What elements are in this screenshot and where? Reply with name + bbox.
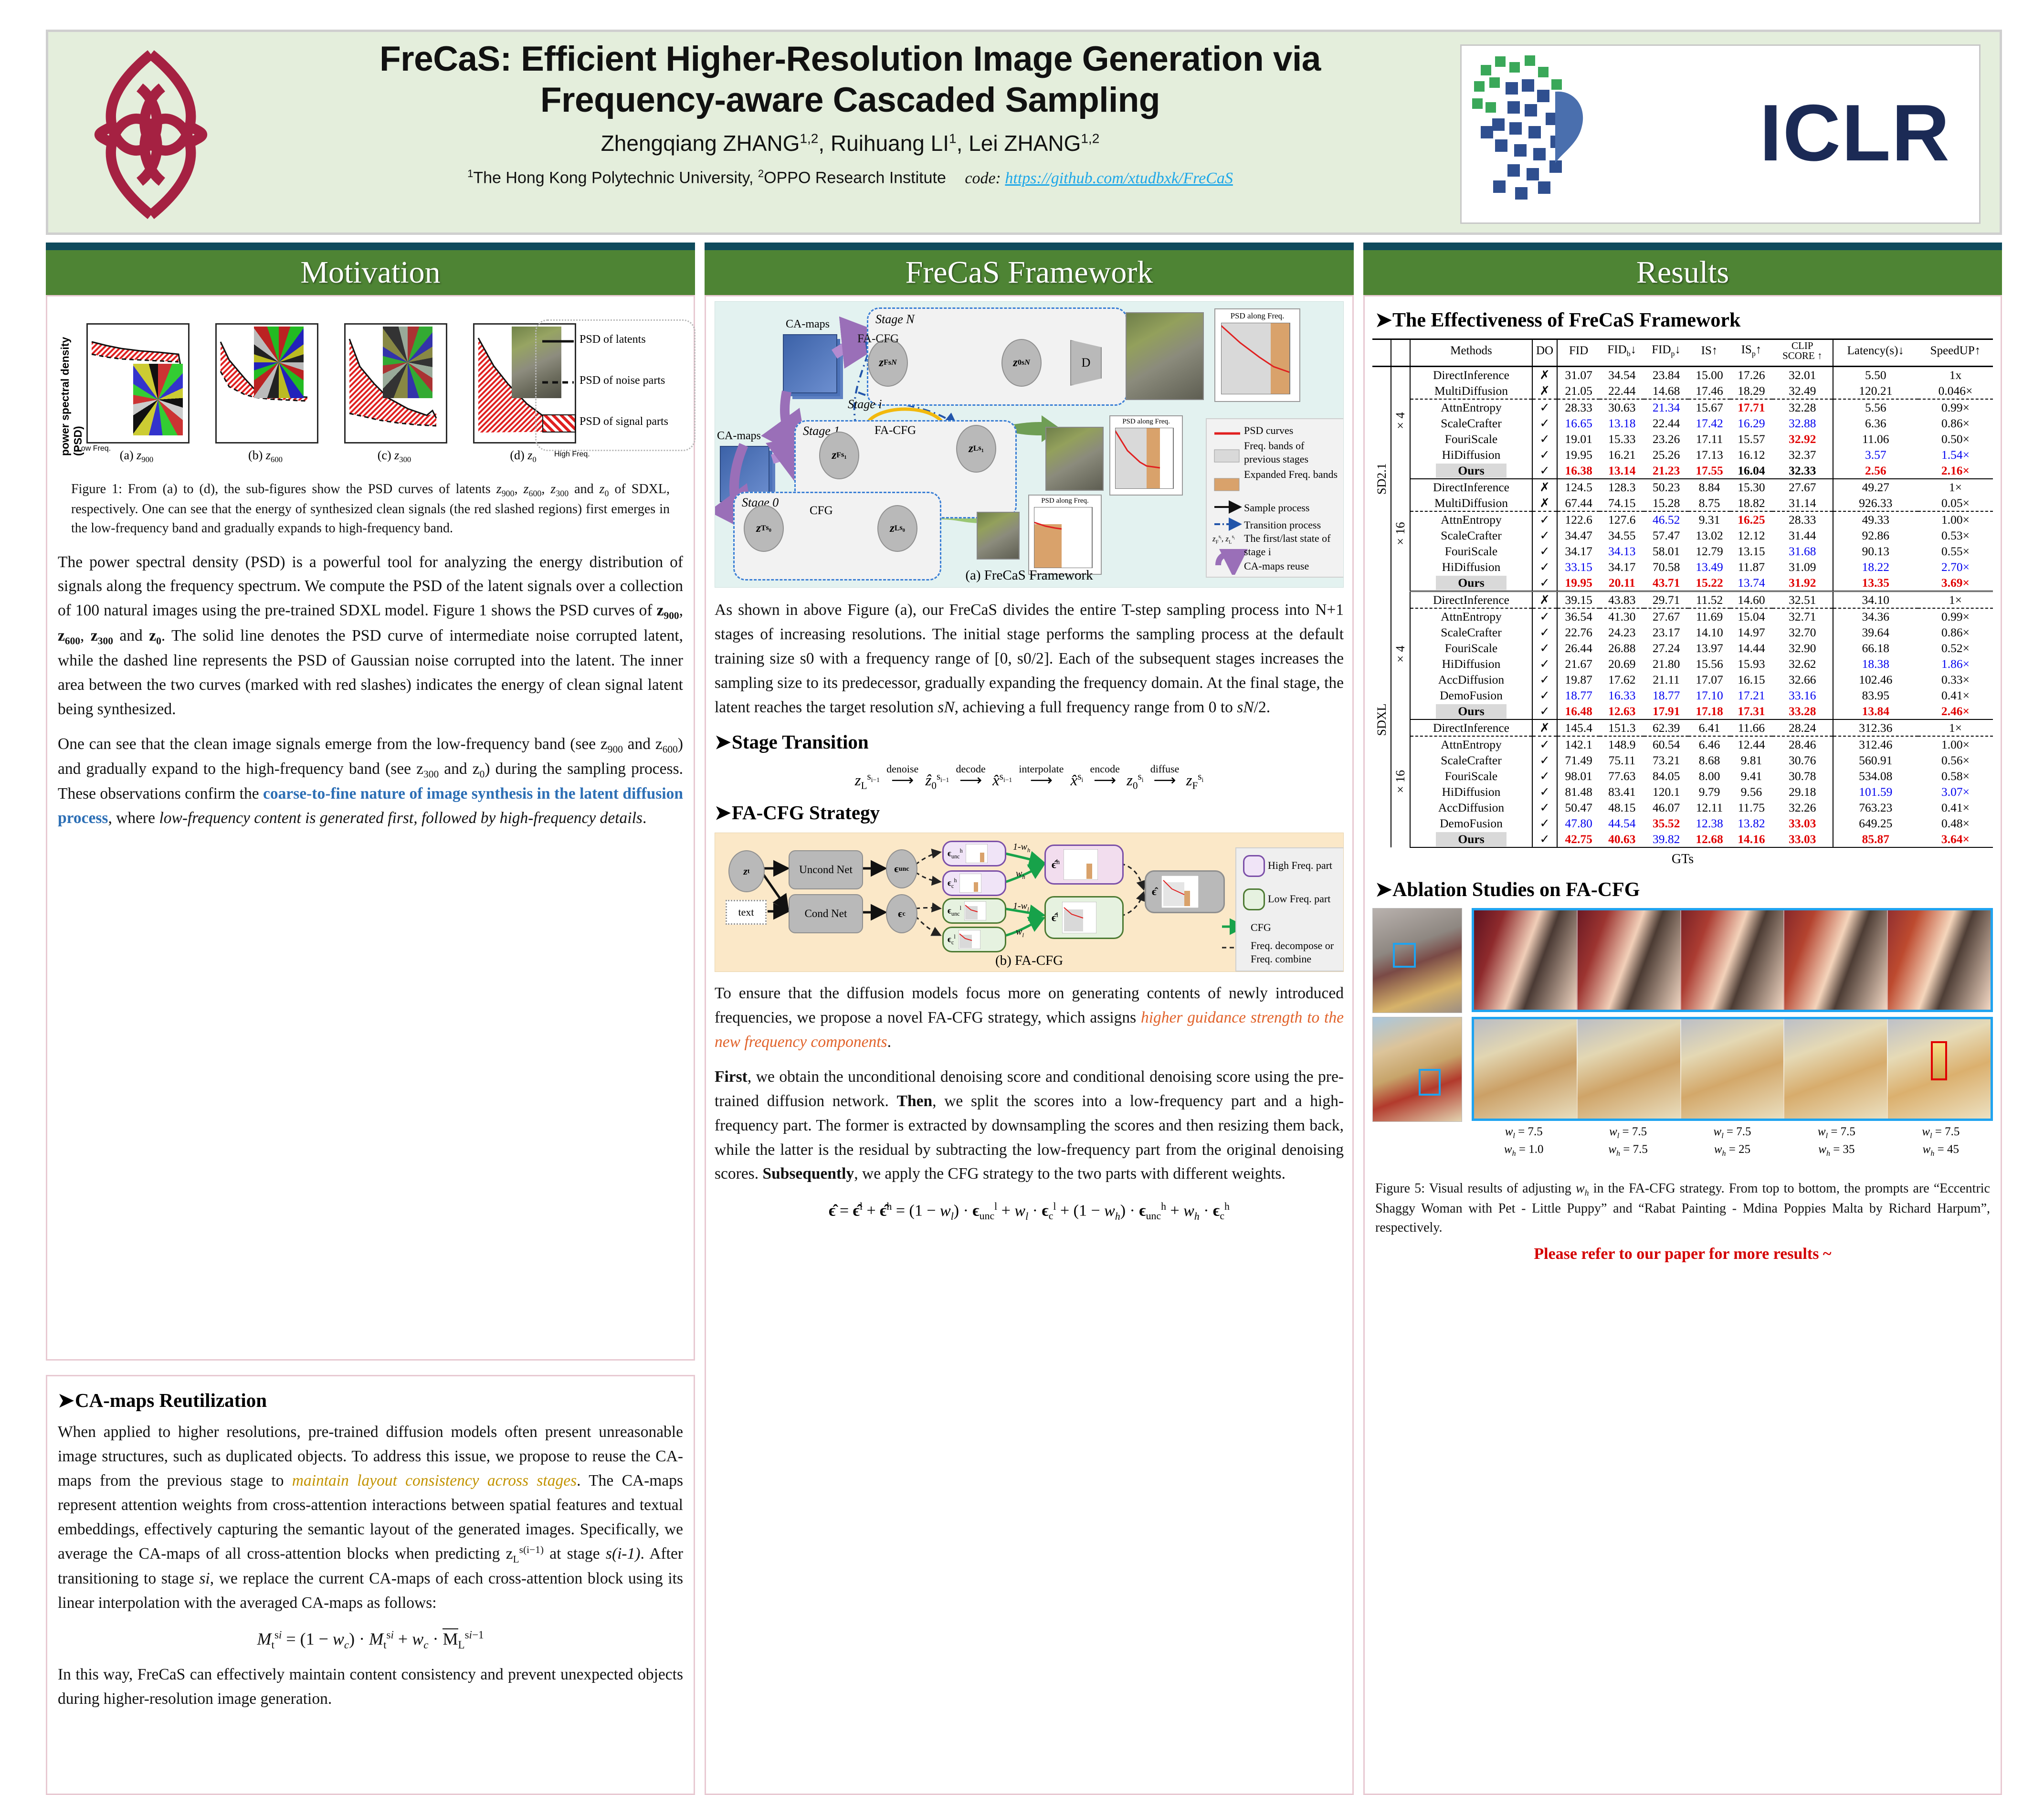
deep-overlap-flag: ✓ [1532, 784, 1557, 800]
metric-cell: 28.46 [1772, 736, 1833, 752]
deep-overlap-flag: ✓ [1532, 768, 1557, 784]
ablation-strip-painting [1472, 1017, 1993, 1121]
method-name: FouriScale [1410, 768, 1532, 784]
column-motivation: Motivation power spectral density (PSD) [46, 243, 695, 1795]
metric-cell: 43.71 [1644, 575, 1688, 591]
metric-cell: 25.26 [1644, 447, 1688, 463]
metric-cell: 39.82 [1644, 831, 1688, 847]
metric-cell: 3.07× [1918, 784, 1993, 800]
high-freq-label: High Freq. [554, 450, 590, 459]
camaps-equation: Mtsi = (1 − wc) · Mtsi + wc · MLsi−1 [58, 1626, 683, 1653]
psd-mini-n: PSD along Freq. [1214, 308, 1300, 402]
deep-overlap-flag: ✓ [1532, 736, 1557, 752]
legend-high-freq-label: High Freq. part [1268, 859, 1332, 872]
deep-overlap-flag: ✗ [1532, 367, 1557, 383]
facfg-diagram: zt text Uncond Net Cond Net ϵunc ϵc ϵunc… [715, 833, 1344, 972]
metric-cell: 0.41× [1918, 687, 1993, 703]
metric-cell: 9.81 [1730, 752, 1772, 768]
metric-cell: 14.97 [1730, 624, 1772, 640]
metric-cell: 19.87 [1557, 672, 1600, 687]
method-name: MultiDiffusion [1410, 383, 1532, 399]
metric-cell: 21.34 [1644, 399, 1688, 415]
legend-state-symbols: zFsi, zLsi [1212, 534, 1235, 546]
pill-eps-unc-l: ϵuncl [942, 898, 1006, 924]
ablation-artifact-box [1931, 1041, 1947, 1080]
noise-thumb-c [383, 327, 432, 398]
ablation-crop-7 [1578, 1019, 1681, 1119]
metric-cell: 15.30 [1730, 479, 1772, 495]
method-name: DirectInference [1410, 719, 1532, 736]
deep-overlap-flag: ✓ [1532, 415, 1557, 431]
result-image-stage-0 [977, 512, 1020, 560]
metric-cell: 84.05 [1644, 768, 1688, 784]
deep-overlap-flag: ✓ [1532, 703, 1557, 719]
metric-cell: 19.95 [1557, 575, 1600, 591]
method-name: HiDiffusion [1410, 656, 1532, 672]
metric-cell: 18.29 [1730, 383, 1772, 399]
metric-cell: 67.44 [1557, 495, 1600, 511]
figure-5-caption: Figure 5: Visual results of adjusting wh… [1375, 1179, 1990, 1237]
results-footer-note: Please refer to our paper for more resul… [1372, 1245, 1993, 1263]
legend-transition-process: Transition process [1244, 518, 1321, 532]
metric-cell: 34.17 [1600, 559, 1644, 575]
table-row: ScaleCrafter✓71.4975.1173.218.689.8130.7… [1372, 752, 1993, 768]
metric-cell: 6.36 [1833, 415, 1918, 431]
scale-label: ×16 [1391, 479, 1410, 591]
metric-cell: 17.91 [1644, 703, 1688, 719]
ablation-crop-box-woman [1393, 943, 1416, 968]
metric-cell: 57.47 [1644, 528, 1688, 543]
metric-cell: 13.18 [1600, 415, 1644, 431]
metric-cell: 9.41 [1730, 768, 1772, 784]
metric-cell: 20.11 [1600, 575, 1644, 591]
metric-cell: 101.59 [1833, 784, 1918, 800]
metric-cell: 8.75 [1688, 495, 1730, 511]
metric-cell: 70.58 [1644, 559, 1688, 575]
method-name: AttnEntropy [1410, 736, 1532, 752]
metric-cell: 13.84 [1833, 703, 1918, 719]
metric-cell: 0.046× [1918, 383, 1993, 399]
metric-cell: 15.28 [1644, 495, 1688, 511]
pill-eps-hat-l: ϵ̂l [1044, 896, 1124, 939]
noise-thumb-a [133, 364, 183, 435]
metric-cell: 148.9 [1600, 736, 1644, 752]
gts-label: GTs [1372, 848, 1993, 867]
deep-overlap-flag: ✓ [1532, 687, 1557, 703]
legend-label-noise: PSD of noise parts [579, 374, 665, 387]
metric-cell: 34.54 [1600, 367, 1644, 383]
metric-cell: 763.23 [1833, 800, 1918, 815]
node-zl-s0: zLs0 [877, 505, 917, 552]
metric-cell: 17.21 [1730, 687, 1772, 703]
weight-label-1mwh: 1-wh [1013, 842, 1030, 854]
metric-cell: 32.26 [1772, 800, 1833, 815]
metric-cell: 12.38 [1688, 815, 1730, 831]
metric-cell: 0.99× [1918, 608, 1993, 624]
table-row: FouriScale✓98.0177.6384.058.009.4130.785… [1372, 768, 1993, 784]
motivation-paragraph-2: One can see that the clean image signals… [58, 732, 683, 831]
deep-overlap-flag: ✓ [1532, 399, 1557, 415]
results-table-header-rule [1372, 361, 1993, 367]
framework-panel: CA-maps CA-maps [705, 295, 1354, 1795]
metric-cell: 16.65 [1557, 415, 1600, 431]
camaps-text: When applied to higher resolutions, pre-… [58, 1420, 683, 1711]
psd-mini-0: PSD along Freq. [1028, 495, 1102, 575]
pill-eps-c-l: ϵcl [942, 927, 1006, 952]
metric-cell: 1× [1918, 719, 1993, 736]
method-name: DemoFusion [1410, 687, 1532, 703]
method-name: ScaleCrafter [1410, 415, 1532, 431]
metric-cell: 23.84 [1644, 367, 1688, 383]
metric-cell: 11.69 [1688, 608, 1730, 624]
legend-sample-process: Sample process [1244, 501, 1309, 515]
metric-cell: 32.62 [1772, 656, 1833, 672]
method-name: AttnEntropy [1410, 399, 1532, 415]
table-row: FouriScale✓19.0115.3323.2617.1115.5732.9… [1372, 431, 1993, 447]
table-row: Ours✓19.9520.1143.7115.2213.7431.9213.35… [1372, 575, 1993, 591]
bullet-arrow-icon-5: ➤ [1375, 877, 1392, 901]
metric-cell: 31.92 [1772, 575, 1833, 591]
metric-cell: 30.78 [1772, 768, 1833, 784]
facfg-strategy-heading: ➤FA-CFG Strategy [715, 801, 1344, 824]
metric-cell: 17.55 [1688, 463, 1730, 479]
metric-cell: 14.68 [1644, 383, 1688, 399]
metric-cell: 17.11 [1688, 431, 1730, 447]
stage-n-label: Stage N [875, 312, 915, 327]
method-name: HiDiffusion [1410, 447, 1532, 463]
legend-expanded-bands: Expanded Freq. bands [1244, 468, 1339, 481]
metric-cell: 39.15 [1557, 591, 1600, 609]
metric-cell: 15.56 [1688, 656, 1730, 672]
metric-cell: 35.52 [1644, 815, 1688, 831]
results-table: MethodsDOFIDFIDb↓FIDp↓IS↑ISp↑CLIPSCORE ↑… [1372, 338, 1993, 848]
bullet-arrow-icon-3: ➤ [715, 801, 732, 824]
metric-cell: 92.86 [1833, 528, 1918, 543]
scale-label: ×4 [1391, 367, 1410, 479]
metric-cell: 17.18 [1688, 703, 1730, 719]
metric-cell: 18.22 [1833, 559, 1918, 575]
metric-cell: 49.27 [1833, 479, 1918, 495]
metric-cell: 31.44 [1772, 528, 1833, 543]
metric-cell: 41.30 [1600, 608, 1644, 624]
metric-cell: 17.10 [1688, 687, 1730, 703]
metric-cell: 33.03 [1772, 815, 1833, 831]
figure-1-caption: Figure 1: From (a) to (d), the sub-figur… [71, 480, 670, 538]
metric-cell: 31.07 [1557, 367, 1600, 383]
method-name: DirectInference [1410, 367, 1532, 383]
ablation-crop-8 [1681, 1019, 1785, 1119]
uncond-net-box: Uncond Net [789, 850, 863, 889]
metric-cell: 31.09 [1772, 559, 1833, 575]
metric-cell: 6.41 [1688, 719, 1730, 736]
method-name: ScaleCrafter [1410, 624, 1532, 640]
metric-cell: 0.86× [1918, 415, 1993, 431]
metric-cell: 14.44 [1730, 640, 1772, 656]
cfg-label: CFG [810, 504, 833, 517]
metric-cell: 75.11 [1600, 752, 1644, 768]
method-name: HiDiffusion [1410, 784, 1532, 800]
metric-cell: 3.64× [1918, 831, 1993, 847]
metric-cell: 17.42 [1688, 415, 1730, 431]
metric-cell: 12.11 [1688, 800, 1730, 815]
table-row: HiDiffusion✓21.6720.6921.8015.5615.9332.… [1372, 656, 1993, 672]
section-header-motivation: Motivation [46, 243, 695, 295]
github-link[interactable]: https://github.com/xtudbxk/FreCaS [1005, 169, 1233, 187]
metric-cell: 34.13 [1600, 543, 1644, 559]
metric-cell: 32.71 [1772, 608, 1833, 624]
metric-cell: 9.31 [1688, 511, 1730, 528]
result-image-stage-1 [1045, 427, 1104, 491]
metric-cell: 77.63 [1600, 768, 1644, 784]
method-name: HiDiffusion [1410, 559, 1532, 575]
metric-cell: 15.22 [1688, 575, 1730, 591]
metric-cell: 32.88 [1772, 415, 1833, 431]
metric-cell: 16.21 [1600, 447, 1644, 463]
metric-cell: 5.56 [1833, 399, 1918, 415]
facfg-fig-caption: (b) FA-CFG [715, 953, 1343, 969]
metric-cell: 13.97 [1688, 640, 1730, 656]
column-framework: FreCaS Framework CA-maps CA-maps [705, 243, 1354, 1795]
metric-cell: 26.88 [1600, 640, 1644, 656]
metric-cell: 3.69× [1918, 575, 1993, 591]
ablation-weight-label-3: wl = 7.5wh = 25 [1680, 1124, 1784, 1159]
table-row: AttnEntropy✓36.5441.3027.6711.6915.0432.… [1372, 608, 1993, 624]
ablation-row-woman [1372, 908, 1993, 1012]
iclr-brain-icon [1462, 46, 1662, 222]
camaps-panel: ➤CA-maps Reutilization When applied to h… [46, 1375, 695, 1795]
method-name: ScaleCrafter [1410, 752, 1532, 768]
table-row: ScaleCrafter✓16.6513.1822.4417.4216.2932… [1372, 415, 1993, 431]
metric-cell: 11.52 [1688, 591, 1730, 609]
stage-transition-heading: ➤Stage Transition [715, 730, 1344, 753]
method-name: FouriScale [1410, 431, 1532, 447]
metric-cell: 0.52× [1918, 640, 1993, 656]
ablation-source-woman [1372, 908, 1462, 1013]
text-input-node: text [726, 900, 767, 925]
metric-cell: 32.01 [1772, 367, 1833, 383]
weight-label-1mwl: 1-wl [1013, 901, 1029, 913]
legend-psd-curves: PSD curves [1244, 424, 1293, 437]
figure-1-subcap-c: (c) z300 [344, 448, 444, 465]
metric-cell: 312.36 [1833, 719, 1918, 736]
legend-dashed-line-icon [542, 381, 574, 384]
metric-cell: 50.23 [1644, 479, 1688, 495]
deep-overlap-flag: ✓ [1532, 608, 1557, 624]
legend-low-freq-swatch-icon [1243, 888, 1265, 910]
pill-eps-c-h: ϵch [942, 870, 1006, 896]
metric-cell: 11.06 [1833, 431, 1918, 447]
section-title-framework: FreCaS Framework [906, 254, 1153, 291]
facfg-label-n: FA-CFG [857, 332, 899, 346]
metric-cell: 0.41× [1918, 800, 1993, 815]
deep-overlap-flag: ✓ [1532, 656, 1557, 672]
metric-cell: 5.50 [1833, 367, 1918, 383]
metric-cell: 34.47 [1557, 528, 1600, 543]
legend-low-freq-label: Low Freq. part [1268, 892, 1330, 906]
figure-1-ylabel: power spectral density (PSD) [59, 313, 84, 456]
metric-cell: 15.00 [1688, 367, 1730, 383]
stage-i-label: Stage i [848, 397, 882, 412]
low-freq-label: Low Freq. [77, 444, 111, 453]
metric-cell: 73.21 [1644, 752, 1688, 768]
node-zf-s1: zFs1 [819, 432, 859, 479]
figure-1-psd: power spectral density (PSD) (a) z900 [58, 307, 683, 475]
metric-cell: 81.48 [1557, 784, 1600, 800]
polyu-logo-icon [77, 46, 225, 223]
metric-cell: 62.39 [1644, 719, 1688, 736]
metric-cell: 14.10 [1688, 624, 1730, 640]
metric-cell: 13.49 [1688, 559, 1730, 575]
method-name: DirectInference [1410, 591, 1532, 609]
deep-overlap-flag: ✗ [1532, 591, 1557, 609]
table-row: AccDiffusion✓19.8717.6221.1117.0716.1532… [1372, 672, 1993, 687]
ablation-weight-label-1: wl = 7.5wh = 1.0 [1472, 1124, 1576, 1159]
author-list: Zhengqiang ZHANG1,2, Ruihuang LI1, Lei Z… [230, 130, 1471, 156]
pill-eps-hat: ϵ̂ [1145, 870, 1225, 913]
metric-cell: 1.00× [1918, 736, 1993, 752]
ablation-crop-10 [1888, 1019, 1991, 1119]
metric-cell: 15.67 [1688, 399, 1730, 415]
metric-cell: 122.6 [1557, 511, 1600, 528]
metric-cell: 2.70× [1918, 559, 1993, 575]
ablation-crop-9 [1784, 1019, 1888, 1119]
node-eps-unc: ϵunc [886, 849, 917, 888]
deep-overlap-flag: ✓ [1532, 528, 1557, 543]
metric-cell: 28.24 [1772, 719, 1833, 736]
metric-cell: 18.77 [1557, 687, 1600, 703]
deep-overlap-flag: ✗ [1532, 495, 1557, 511]
table-row: AccDiffusion✓50.4748.1546.0712.1111.7532… [1372, 800, 1993, 815]
method-name: Ours [1410, 463, 1532, 479]
metric-cell: 142.1 [1557, 736, 1600, 752]
ablation-crop-6 [1474, 1019, 1578, 1119]
metric-cell: 46.07 [1644, 800, 1688, 815]
metric-cell: 8.68 [1688, 752, 1730, 768]
metric-cell: 74.15 [1600, 495, 1644, 511]
ablation-figure: wl = 7.5wh = 1.0wl = 7.5wh = 7.5wl = 7.5… [1372, 908, 1993, 1128]
legend-solid-line-icon [542, 340, 574, 343]
facfg-paragraph-2: First, we obtain the unconditional denoi… [715, 1065, 1344, 1187]
metric-cell: 2.16× [1918, 463, 1993, 479]
metric-cell: 19.95 [1557, 447, 1600, 463]
metric-cell: 49.33 [1833, 511, 1918, 528]
metric-cell: 33.15 [1557, 559, 1600, 575]
weight-label-wl: wl [1016, 927, 1024, 939]
deep-overlap-flag: ✓ [1532, 511, 1557, 528]
table-row: ×16DirectInference✗145.4151.362.396.4111… [1372, 719, 1993, 736]
metric-cell: 21.11 [1644, 672, 1688, 687]
results-heading-2: ➤Ablation Studies on FA-CFG [1375, 877, 1993, 901]
table-row: Ours✓16.3813.1421.2317.5516.0432.332.562… [1372, 463, 1993, 479]
ablation-weight-label-5: wl = 7.5wh = 45 [1889, 1124, 1993, 1159]
metric-cell: 13.35 [1833, 575, 1918, 591]
results-table-head: MethodsDOFIDFIDb↓FIDp↓IS↑ISp↑CLIPSCORE ↑… [1372, 339, 1993, 367]
metric-cell: 43.83 [1600, 591, 1644, 609]
node-z0-sn: z0sN [1001, 339, 1042, 387]
bullet-arrow-icon-4: ➤ [1375, 308, 1392, 332]
motivation-panel: power spectral density (PSD) (a) z900 [46, 295, 695, 1361]
node-eps-c: ϵc [886, 894, 917, 933]
metric-cell: 12.44 [1730, 736, 1772, 752]
legend-prev-bands: Freq. bands of previous stages [1244, 439, 1339, 465]
metric-cell: 12.79 [1688, 543, 1730, 559]
metric-cell: 1.00× [1918, 511, 1993, 528]
pill-eps-unc-h: ϵunch [942, 841, 1006, 866]
metric-cell: 120.1 [1644, 784, 1688, 800]
stage-transition-equation: zLsi−1 denoise ⟶ ẑ0si−1 decode ⟶ x̂si−1 … [715, 764, 1344, 792]
cond-net-box: Cond Net [789, 894, 863, 933]
metric-cell: 17.26 [1730, 367, 1772, 383]
deep-overlap-flag: ✓ [1532, 543, 1557, 559]
metric-cell: 0.48× [1918, 815, 1993, 831]
table-row: FouriScale✓26.4426.8827.2413.9714.4432.9… [1372, 640, 1993, 656]
metric-cell: 102.46 [1833, 672, 1918, 687]
metric-cell: 1.86× [1918, 656, 1993, 672]
node-zl-s1: zLs1 [956, 425, 996, 473]
scale-label: ×4 [1391, 591, 1410, 720]
metric-cell: 560.91 [1833, 752, 1918, 768]
metric-cell: 58.01 [1644, 543, 1688, 559]
facfg-equation: ϵ̂ = ϵ̂l + ϵ̂h = (1 − wl) · ϵuncl + wl ·… [715, 1201, 1344, 1222]
psd-plot-c [344, 323, 447, 443]
decoder-node: D [1070, 340, 1102, 386]
section-title-results: Results [1636, 254, 1729, 291]
table-row: AttnEntropy✓28.3330.6321.3415.6717.7132.… [1372, 399, 1993, 415]
metric-cell: 33.28 [1772, 703, 1833, 719]
metric-cell: 0.86× [1918, 624, 1993, 640]
metric-cell: 30.63 [1600, 399, 1644, 415]
metric-cell: 1.54× [1918, 447, 1993, 463]
facfg-text: To ensure that the diffusion models focu… [715, 982, 1344, 1186]
camaps-heading: ➤CA-maps Reutilization [58, 1389, 683, 1412]
deep-overlap-flag: ✓ [1532, 752, 1557, 768]
metric-cell: 30.76 [1772, 752, 1833, 768]
metric-cell: 29.71 [1644, 591, 1688, 609]
metric-cell: 127.6 [1600, 511, 1644, 528]
metric-cell: 11.87 [1730, 559, 1772, 575]
metric-cell: 13.02 [1688, 528, 1730, 543]
metric-cell: 50.47 [1557, 800, 1600, 815]
metric-cell: 16.38 [1557, 463, 1600, 479]
metric-cell: 34.55 [1600, 528, 1644, 543]
metric-cell: 0.33× [1918, 672, 1993, 687]
method-name: AccDiffusion [1410, 800, 1532, 815]
metric-cell: 312.46 [1833, 736, 1918, 752]
metric-cell: 0.53× [1918, 528, 1993, 543]
table-row: AttnEntropy✓122.6127.646.529.3116.2528.3… [1372, 511, 1993, 528]
deep-overlap-flag: ✗ [1532, 719, 1557, 736]
ablation-weight-label-4: wl = 7.5wh = 35 [1784, 1124, 1888, 1159]
bullet-arrow-icon: ➤ [58, 1389, 75, 1412]
metric-cell: 83.41 [1600, 784, 1644, 800]
metric-cell: 0.58× [1918, 768, 1993, 784]
motivation-italic: low-frequency content is generated first… [159, 809, 643, 827]
table-row: SD2.1×4DirectInference✗31.0734.5423.8415… [1372, 367, 1993, 383]
metric-cell: 32.37 [1772, 447, 1833, 463]
metric-cell: 17.13 [1688, 447, 1730, 463]
metric-cell: 44.54 [1600, 815, 1644, 831]
metric-cell: 13.14 [1600, 463, 1644, 479]
psd-plot-b [215, 323, 318, 443]
metric-cell: 28.33 [1557, 399, 1600, 415]
ablation-crop-2 [1578, 910, 1681, 1010]
metric-cell: 32.92 [1772, 431, 1833, 447]
metric-cell: 27.24 [1644, 640, 1688, 656]
ablation-crop-1 [1474, 910, 1578, 1010]
deep-overlap-flag: ✓ [1532, 672, 1557, 687]
psd-mini-1: PSD along Freq. [1109, 415, 1183, 496]
metric-cell: 66.18 [1833, 640, 1918, 656]
